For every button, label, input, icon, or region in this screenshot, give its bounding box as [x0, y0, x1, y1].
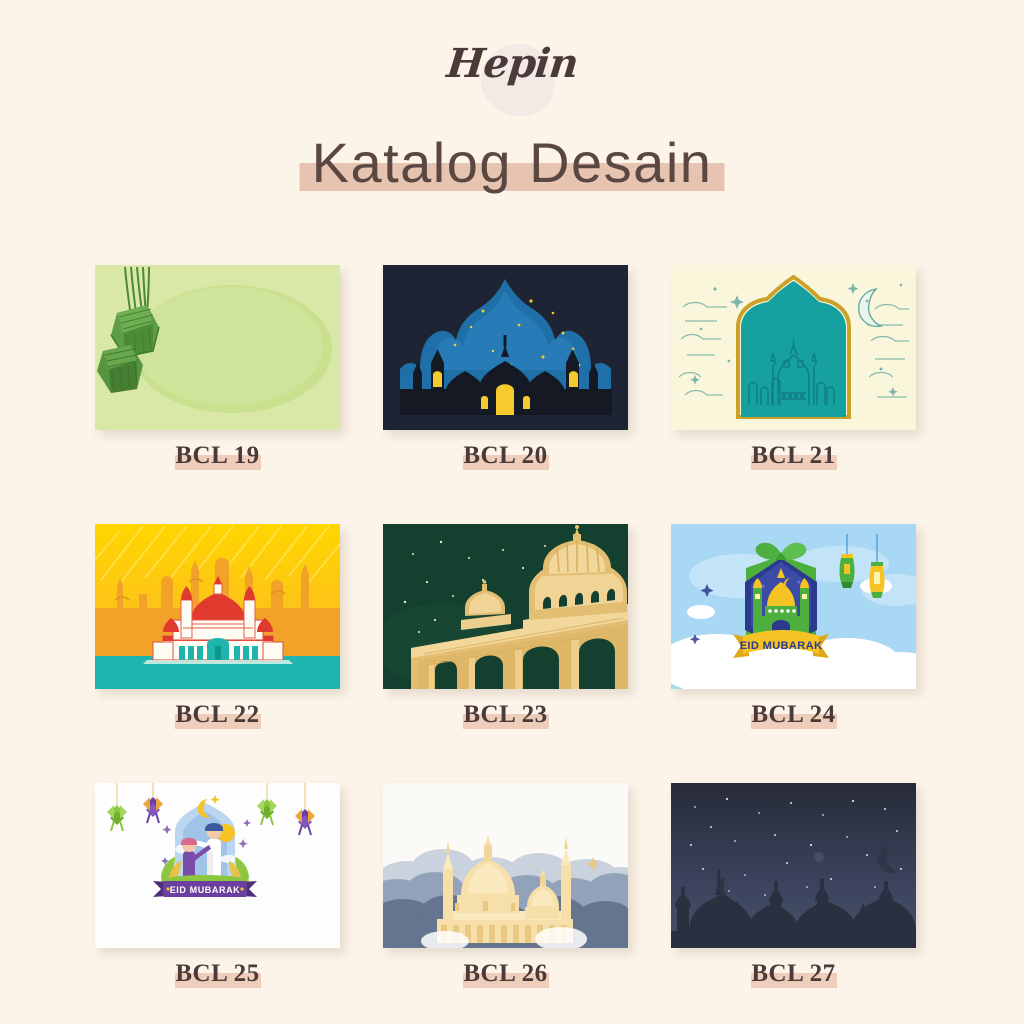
eid-banner: EID MUBARAK	[153, 881, 257, 897]
artwork-green-night-golden-mosque	[383, 524, 628, 689]
catalog-item[interactable]: BCL 22	[95, 524, 340, 735]
card-label-wrap: BCL 20	[383, 436, 628, 476]
artwork-cloud-golden-mosque	[383, 783, 628, 948]
artwork-night-arch-mosque	[383, 265, 628, 430]
brand-logo: Hepin	[0, 40, 1024, 87]
catalog-item[interactable]: BCL 20	[383, 265, 628, 476]
card-label-wrap: BCL 23	[383, 695, 628, 735]
page-title-text: Katalog Desain	[312, 130, 713, 195]
card-label: BCL 22	[175, 701, 259, 729]
card-label: BCL 27	[751, 960, 835, 988]
card-label-wrap: BCL 19	[95, 436, 340, 476]
card-bcl-22[interactable]	[95, 524, 340, 689]
card-label: BCL 21	[751, 442, 835, 470]
catalog-item[interactable]: BCL 21	[671, 265, 916, 476]
artwork-ketupat-green	[95, 265, 340, 430]
design-grid: BCL 19	[95, 265, 940, 994]
artwork-teal-arch-doodle	[671, 265, 916, 430]
page-title: Katalog Desain	[0, 127, 1024, 197]
catalog-page: Hepin Katalog Desain	[0, 0, 1024, 1024]
artwork-blue-sky-eid-emblem: EID MUBARAK	[671, 524, 916, 689]
artwork-dark-dome-silhouette	[671, 783, 916, 948]
card-bcl-27[interactable]	[671, 783, 916, 948]
card-bcl-19[interactable]	[95, 265, 340, 430]
eid-banner-text: EID MUBARAK	[170, 885, 241, 895]
catalog-item[interactable]: BCL 19	[95, 265, 340, 476]
card-label-wrap: BCL 25	[95, 954, 340, 994]
catalog-item[interactable]: EID MUBARAK BCL 25	[95, 783, 340, 994]
artwork-yellow-hatch-mosque	[95, 524, 340, 689]
card-bcl-23[interactable]	[383, 524, 628, 689]
artwork-white-hanging-ketupat: EID MUBARAK	[95, 783, 340, 948]
eid-banner-text: EID MUBARAK	[740, 640, 823, 652]
catalog-item[interactable]: EID MUBARAK BCL 24	[671, 524, 916, 735]
catalog-item[interactable]: BCL 26	[383, 783, 628, 994]
card-label-wrap: BCL 24	[671, 695, 916, 735]
catalog-item[interactable]: BCL 23	[383, 524, 628, 735]
card-label-wrap: BCL 22	[95, 695, 340, 735]
card-label: BCL 26	[463, 960, 547, 988]
card-label: BCL 19	[175, 442, 259, 470]
card-label-wrap: BCL 26	[383, 954, 628, 994]
card-label: BCL 23	[463, 701, 547, 729]
card-label-wrap: BCL 21	[671, 436, 916, 476]
card-label: BCL 24	[751, 701, 835, 729]
card-bcl-25[interactable]: EID MUBARAK	[95, 783, 340, 948]
card-bcl-20[interactable]	[383, 265, 628, 430]
brand-name: Hepin	[444, 40, 579, 87]
card-label: BCL 20	[463, 442, 547, 470]
card-label-wrap: BCL 27	[671, 954, 916, 994]
catalog-item[interactable]: BCL 27	[671, 783, 916, 994]
card-bcl-21[interactable]	[671, 265, 916, 430]
card-label: BCL 25	[175, 960, 259, 988]
card-bcl-24[interactable]: EID MUBARAK	[671, 524, 916, 689]
card-bcl-26[interactable]	[383, 783, 628, 948]
